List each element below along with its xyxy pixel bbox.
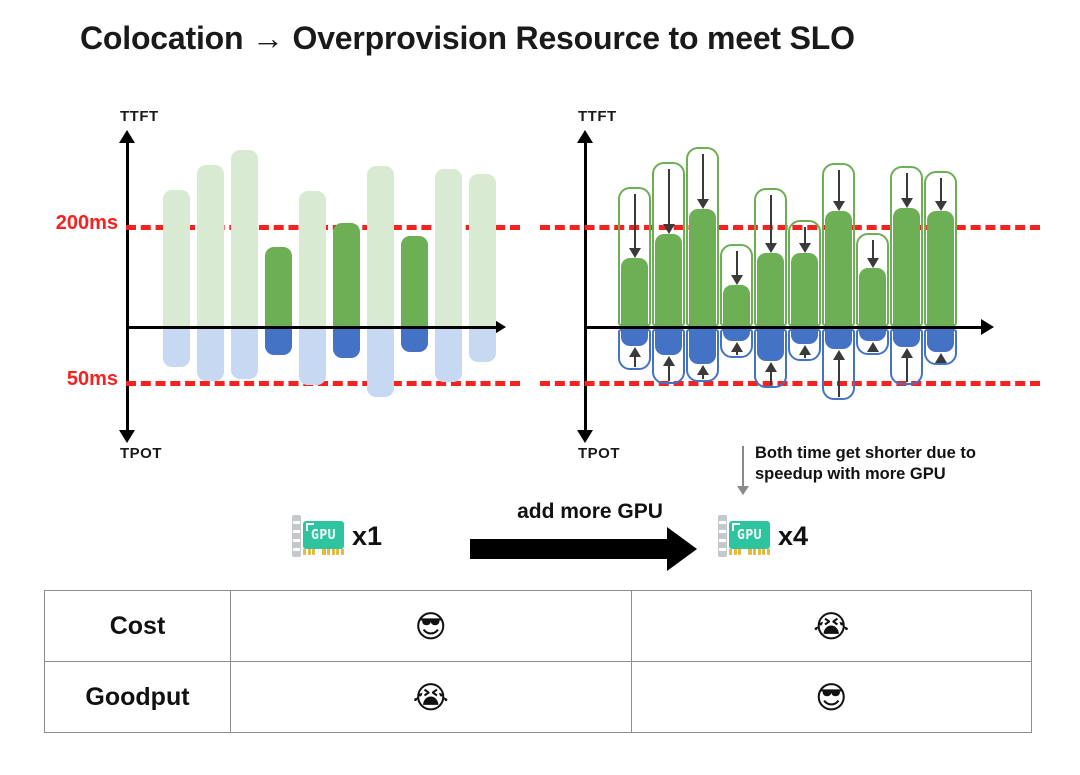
ttft-bar xyxy=(757,253,784,326)
tpot-shrink-arrow-head-icon xyxy=(663,356,675,366)
axis-label-tpot-right: TPOT xyxy=(578,445,620,462)
gpu-bracket xyxy=(292,515,301,557)
tpot-shrink-arrow-head-icon xyxy=(901,348,913,358)
table-row-label: Goodput xyxy=(45,662,231,733)
page-title: Colocation → Overprovision Resource to m… xyxy=(80,20,1000,57)
x-axis-arrowhead-right xyxy=(981,319,994,335)
table-cell-left: 😭 xyxy=(231,662,632,733)
ttft-bar xyxy=(435,169,462,326)
note-arrow-head-icon xyxy=(737,486,749,495)
ttft-bar xyxy=(825,211,852,326)
tpot-bar xyxy=(299,329,326,385)
tpot-bar xyxy=(825,329,852,349)
tpot-shrink-arrow-head-icon xyxy=(867,342,879,352)
ttft-shrink-arrow-head-icon xyxy=(697,199,709,209)
sunglasses-emoji-icon: 😎 xyxy=(415,609,447,644)
chart-colocation-4-gpu: TTFT TPOT xyxy=(540,100,1040,480)
tpot-shrink-arrow-head-icon xyxy=(799,345,811,355)
tpot-bar xyxy=(333,329,360,358)
ttft-shrink-arrow-head-icon xyxy=(663,224,675,234)
tpot-shrink-arrow-head-icon xyxy=(629,347,641,357)
tpot-bar xyxy=(367,329,394,397)
slo-line-tpot-right xyxy=(540,381,1040,386)
table-cell-left: 😎 xyxy=(231,591,632,662)
gpu-card-icon: GPU xyxy=(718,515,770,557)
ttft-shrink-arrow-stem xyxy=(838,170,840,203)
axis-label-ttft-right: TTFT xyxy=(578,108,617,125)
tpot-bar xyxy=(621,329,648,346)
add-more-gpu-label: add more GPU xyxy=(480,500,700,524)
gpu-board: GPU xyxy=(303,521,344,549)
ttft-shrink-arrow-stem xyxy=(668,169,670,226)
table-row-label: Cost xyxy=(45,591,231,662)
tpot-bar xyxy=(197,329,224,381)
ttft-shrink-arrow-stem xyxy=(940,178,942,203)
ttft-bar xyxy=(893,208,920,326)
axis-label-tpot-left: TPOT xyxy=(120,445,162,462)
ttft-bar xyxy=(299,191,326,326)
ttft-bar xyxy=(401,236,428,326)
tpot-bar xyxy=(265,329,292,355)
ttft-shrink-arrow-stem xyxy=(736,251,738,277)
ttft-bar xyxy=(927,211,954,326)
ttft-shrink-arrow-head-icon xyxy=(629,248,641,258)
gpu-count-before: x1 xyxy=(352,521,382,552)
table-row: Goodput😭😎 xyxy=(45,662,1032,733)
tpot-bar xyxy=(655,329,682,355)
transition-arrow-head-icon xyxy=(667,527,697,571)
tpot-bar xyxy=(757,329,784,361)
ttft-shrink-arrow-stem xyxy=(906,173,908,200)
tpot-bar xyxy=(859,329,886,341)
tpot-shrink-arrow-head-icon xyxy=(833,350,845,360)
comparison-table: Cost😎😭Goodput😭😎 xyxy=(44,590,1032,733)
tpot-shrink-arrow-stem xyxy=(906,357,908,382)
crying-emoji-icon: 😭 xyxy=(413,680,449,715)
tpot-bar xyxy=(791,329,818,344)
transition-arrow-stem xyxy=(470,539,670,559)
tpot-shrink-arrow-stem xyxy=(770,371,772,385)
ttft-bar xyxy=(367,166,394,326)
ttft-shrink-arrow-stem xyxy=(634,194,636,250)
ttft-bar xyxy=(469,174,496,326)
sunglasses-emoji-icon: 😎 xyxy=(815,680,847,715)
table-row: Cost😎😭 xyxy=(45,591,1032,662)
ttft-bar xyxy=(333,223,360,326)
tpot-shrink-arrow-head-icon xyxy=(697,365,709,375)
ttft-shrink-arrow-head-icon xyxy=(731,275,743,285)
ttft-bar xyxy=(859,268,886,326)
gpu-label-before: GPU xyxy=(303,521,344,549)
ttft-bar xyxy=(689,209,716,326)
y-axis-right xyxy=(584,140,587,440)
ttft-bar xyxy=(655,234,682,326)
gpu-group-after: GPU x4 xyxy=(718,515,808,557)
ttft-shrink-arrow-head-icon xyxy=(867,258,879,268)
gpu-label-after: GPU xyxy=(729,521,770,549)
ttft-bar xyxy=(231,150,258,326)
gpu-pins xyxy=(303,549,344,555)
crying-emoji-icon: 😭 xyxy=(813,609,849,644)
chart-colocation-1-gpu: TTFT TPOT 200ms 50ms xyxy=(40,100,520,480)
tpot-bar xyxy=(435,329,462,382)
gpu-bracket xyxy=(718,515,727,557)
ttft-shrink-arrow-head-icon xyxy=(799,243,811,253)
note-arrow-stem xyxy=(742,446,744,488)
table-cell-right: 😭 xyxy=(631,591,1032,662)
axis-label-ttft-left: TTFT xyxy=(120,108,159,125)
y-axis-arrowhead-down-left xyxy=(119,430,135,443)
ttft-bar xyxy=(791,253,818,326)
slo-label-ttft-left: 200ms xyxy=(20,212,118,235)
note-line-2: speedup with more GPU xyxy=(755,465,946,483)
ttft-shrink-arrow-stem xyxy=(770,195,772,245)
ttft-bar xyxy=(265,247,292,326)
ttft-bar xyxy=(163,190,190,326)
gpu-group-before: GPU x1 xyxy=(292,515,382,557)
ttft-shrink-arrow-stem xyxy=(872,240,874,261)
ttft-bar xyxy=(621,258,648,326)
y-axis-arrowhead-down-right xyxy=(577,430,593,443)
gpu-card-icon: GPU xyxy=(292,515,344,557)
ttft-shrink-arrow-head-icon xyxy=(765,243,777,253)
gpu-pins xyxy=(729,549,770,555)
note-line-1: Both time get shorter due to xyxy=(755,444,976,462)
tpot-bar xyxy=(689,329,716,364)
ttft-shrink-arrow-stem xyxy=(702,154,704,201)
table-cell-right: 😎 xyxy=(631,662,1032,733)
tpot-bar xyxy=(469,329,496,362)
tpot-shrink-arrow-head-icon xyxy=(765,362,777,372)
tpot-bar xyxy=(231,329,258,379)
ttft-bar xyxy=(723,285,750,326)
tpot-bar xyxy=(723,329,750,341)
tpot-shrink-arrow-head-icon xyxy=(935,353,947,363)
tpot-shrink-arrow-stem xyxy=(838,359,840,398)
tpot-bar xyxy=(893,329,920,347)
ttft-shrink-arrow-head-icon xyxy=(833,201,845,211)
ttft-shrink-arrow-head-icon xyxy=(935,201,947,211)
ttft-bar xyxy=(197,165,224,326)
note-text: Both time get shorter due to speedup wit… xyxy=(755,443,1035,485)
tpot-shrink-arrow-head-icon xyxy=(731,342,743,352)
y-axis-left xyxy=(126,140,129,440)
tpot-bar xyxy=(163,329,190,367)
tpot-bar xyxy=(927,329,954,352)
gpu-board: GPU xyxy=(729,521,770,549)
tpot-bar xyxy=(401,329,428,352)
tpot-shrink-arrow-stem xyxy=(668,365,670,381)
gpu-count-after: x4 xyxy=(778,521,808,552)
slo-label-tpot-left: 50ms xyxy=(20,368,118,391)
tpot-shrink-arrow-stem xyxy=(634,356,636,367)
ttft-shrink-arrow-head-icon xyxy=(901,198,913,208)
